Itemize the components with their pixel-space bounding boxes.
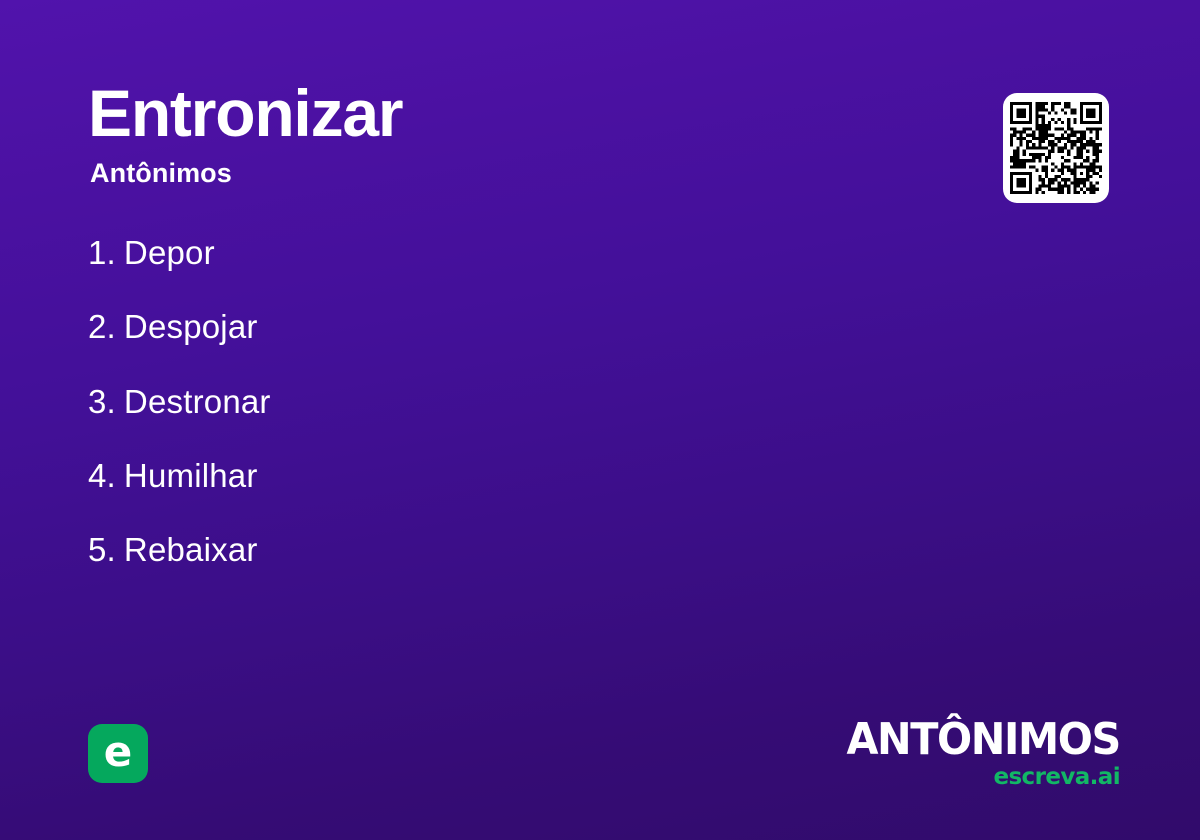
list-item: 1.Depor <box>88 232 868 273</box>
escreva-logo-badge[interactable]: e <box>88 724 148 783</box>
antonym-list: 1.Depor2.Despojar3.Destronar4.Humilhar5.… <box>88 232 868 570</box>
qr-code-panel[interactable] <box>1003 93 1109 203</box>
list-item-index: 3. <box>88 383 116 420</box>
list-item-index: 5. <box>88 531 116 568</box>
list-item-label: Destronar <box>124 383 271 420</box>
list-item: 4.Humilhar <box>88 455 868 496</box>
list-item-index: 1. <box>88 234 116 271</box>
wordmark-domain: escreva.ai <box>829 766 1120 789</box>
antonyms-card: Entronizar Antônimos 1.Depor2.Despojar3.… <box>0 0 1200 840</box>
list-item-label: Humilhar <box>124 457 258 494</box>
page-subtitle: Antônimos <box>90 159 908 189</box>
list-item-label: Rebaixar <box>124 531 258 568</box>
wordmark-title: ANTÔNIMOS <box>847 718 1120 762</box>
list-item: 5.Rebaixar <box>88 529 868 570</box>
list-item-label: Depor <box>124 234 215 271</box>
brand-wordmark: ANTÔNIMOS escreva.ai <box>829 718 1120 789</box>
list-item: 2.Despojar <box>88 306 868 347</box>
headline-block: Entronizar Antônimos <box>88 78 908 189</box>
qr-code-icon[interactable] <box>1010 102 1102 194</box>
list-item: 3.Destronar <box>88 381 868 422</box>
list-item-label: Despojar <box>124 308 258 345</box>
list-item-index: 2. <box>88 308 116 345</box>
list-item-index: 4. <box>88 457 116 494</box>
page-title: Entronizar <box>88 78 908 149</box>
escreva-logo-letter: e <box>104 731 133 773</box>
